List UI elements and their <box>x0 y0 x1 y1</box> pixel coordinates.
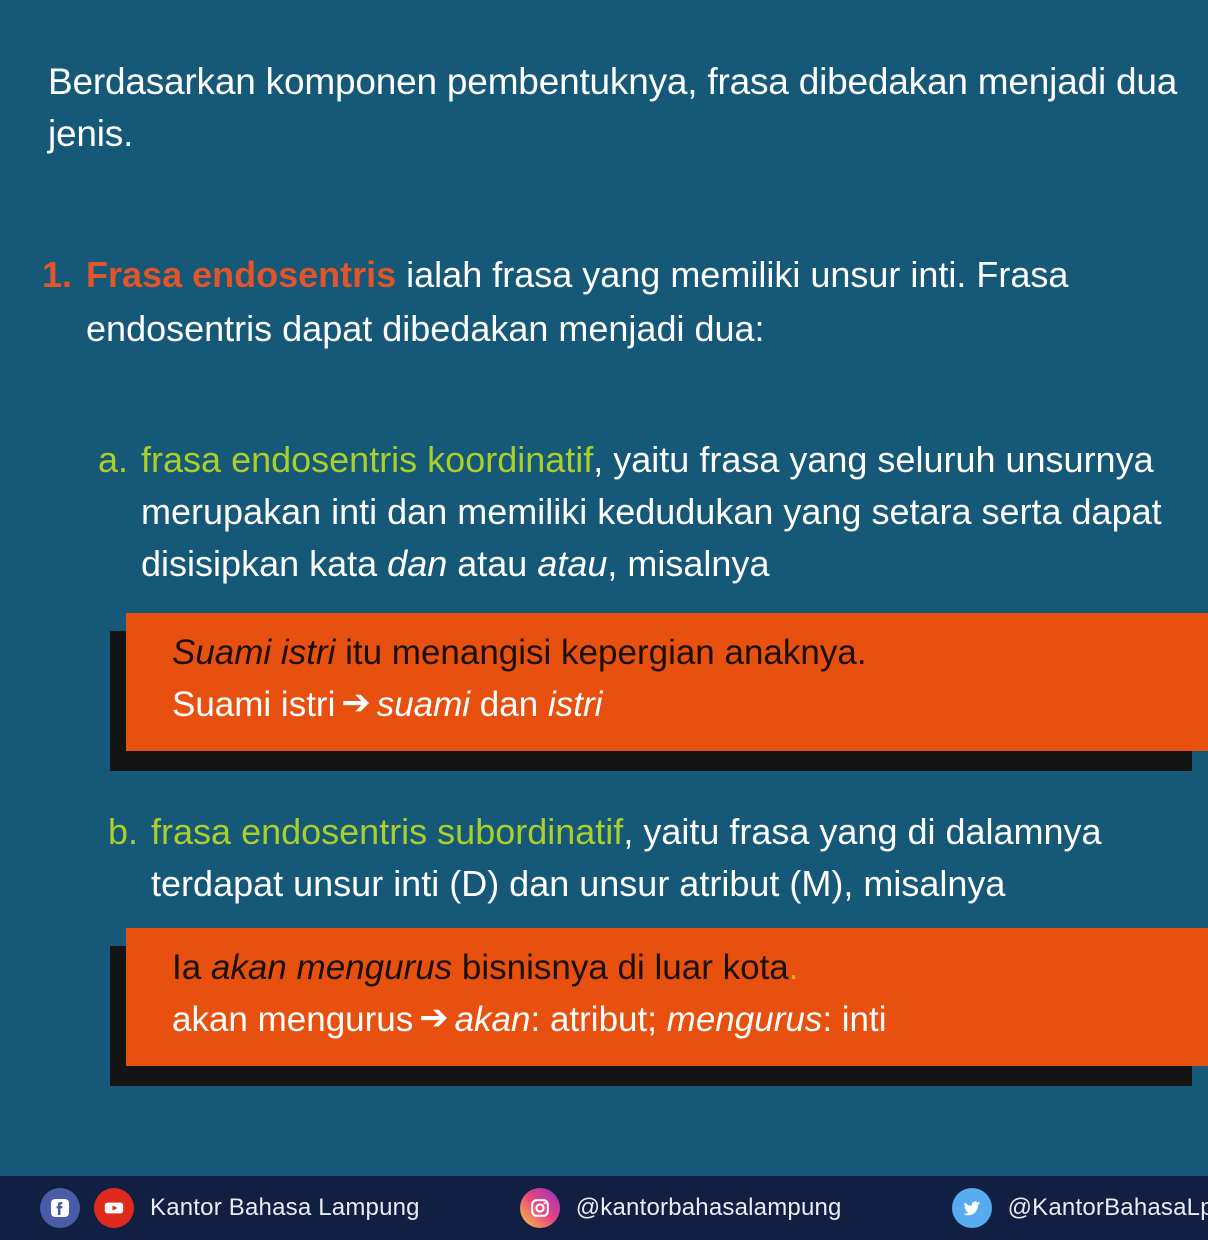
example-b-line-2-mid: : atribut; <box>531 1000 667 1039</box>
example-b-line-2-italic-mengurus: mengurus <box>667 1000 823 1039</box>
sub-item-a-italic-dan: dan <box>387 543 447 584</box>
sub-item-a-body: frasa endosentris koordinatif, yaitu fra… <box>141 434 1206 590</box>
sub-item-b: b. frasa endosentris subordinatif, yaitu… <box>108 806 1208 910</box>
example-a-line-2: Suami istri➔suami dan istri <box>172 679 1208 731</box>
social-group-facebook-youtube[interactable]: Kantor Bahasa Lampung <box>0 1176 420 1240</box>
youtube-icon[interactable] <box>94 1188 134 1228</box>
sub-item-b-body: frasa endosentris subordinatif, yaitu fr… <box>151 806 1208 910</box>
list-item-1-body: Frasa endosentris ialah frasa yang memil… <box>86 248 1152 356</box>
facebook-icon[interactable] <box>40 1188 80 1228</box>
example-a-line-1-italic: Suami istri <box>172 633 335 672</box>
example-box-b-content: Ia akan mengurus bisnisnya di luar kota.… <box>126 928 1208 1066</box>
example-b-line-1-rest: bisnisnya di luar kota <box>452 948 789 987</box>
facebook-handle-label: Kantor Bahasa Lampung <box>150 1194 420 1222</box>
social-group-twitter[interactable]: @KantorBahasaLpg <box>952 1176 1208 1240</box>
intro-paragraph: Berdasarkan komponen pembentuknya, frasa… <box>48 56 1178 160</box>
twitter-icon[interactable] <box>952 1188 992 1228</box>
example-box-a-content: Suami istri itu menangisi kepergian anak… <box>126 613 1208 751</box>
sub-item-a-letter: a. <box>98 434 128 486</box>
example-a-line-2-mid: dan <box>470 685 548 724</box>
example-b-line-2-italic-akan: akan <box>455 1000 531 1039</box>
keyword-frasa-endosentris: Frasa endosentris <box>86 254 396 295</box>
example-a-line-1: Suami istri itu menangisi kepergian anak… <box>172 627 1208 679</box>
list-item-1-marker: 1. <box>42 248 72 302</box>
example-a-line-2-italic-istri: istri <box>548 685 602 724</box>
instagram-icon[interactable] <box>520 1188 560 1228</box>
slide-root: Berdasarkan komponen pembentuknya, frasa… <box>0 0 1208 1240</box>
example-a-line-2-italic-suami: suami <box>377 685 470 724</box>
keyword-koordinatif: frasa endosentris koordinatif <box>141 439 593 480</box>
example-box-b: Ia akan mengurus bisnisnya di luar kota.… <box>126 928 1208 1068</box>
example-box-a: Suami istri itu menangisi kepergian anak… <box>126 613 1208 753</box>
sub-item-a-italic-atau: atau <box>537 543 607 584</box>
twitter-handle-label: @KantorBahasaLpg <box>1008 1194 1208 1222</box>
sub-item-a: a. frasa endosentris koordinatif, yaitu … <box>98 434 1206 590</box>
example-b-line-1-pre: Ia <box>172 948 211 987</box>
instagram-handle-label: @kantorbahasalampung <box>576 1194 842 1222</box>
example-b-line-1-dot: . <box>789 948 799 987</box>
keyword-subordinatif: frasa endosentris subordinatif <box>151 811 623 852</box>
sub-item-b-letter: b. <box>108 806 138 858</box>
sub-item-a-part3: , misalnya <box>607 543 769 584</box>
footer-social-bar: Kantor Bahasa Lampung @kantorbahasalampu… <box>0 1176 1208 1240</box>
sub-item-a-part2: atau <box>447 543 537 584</box>
list-item-1: 1. Frasa endosentris ialah frasa yang me… <box>42 248 1152 356</box>
arrow-right-icon: ➔ <box>335 677 376 729</box>
example-b-line-2: akan mengurus➔akan: atribut; mengurus: i… <box>172 994 1208 1046</box>
example-a-line-2-pre: Suami istri <box>172 685 335 724</box>
arrow-right-icon: ➔ <box>413 992 454 1044</box>
social-group-instagram[interactable]: @kantorbahasalampung <box>520 1176 842 1240</box>
example-b-line-1: Ia akan mengurus bisnisnya di luar kota. <box>172 942 1208 994</box>
example-b-line-1-italic: akan mengurus <box>211 948 452 987</box>
example-a-line-1-rest: itu menangisi kepergian anaknya. <box>335 633 866 672</box>
example-b-line-2-end: : inti <box>822 1000 886 1039</box>
example-b-line-2-pre: akan mengurus <box>172 1000 413 1039</box>
